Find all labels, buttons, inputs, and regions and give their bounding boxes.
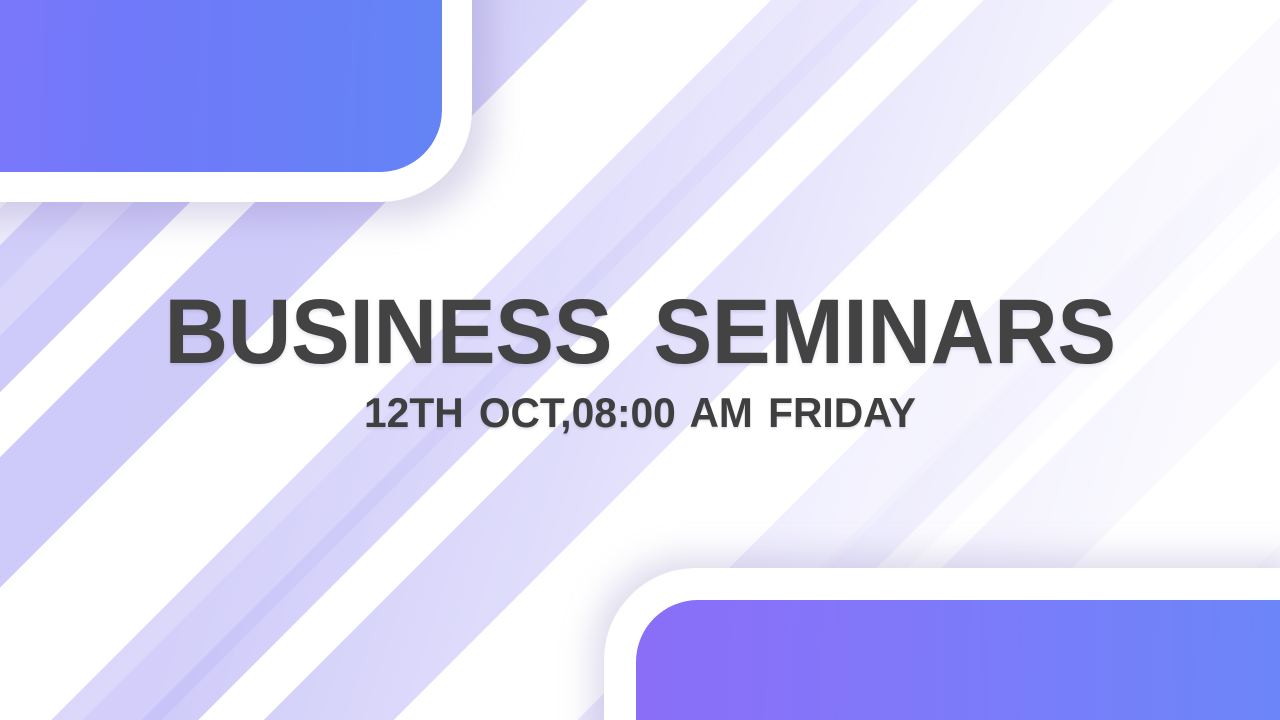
top-left-gradient-plate [0,0,442,172]
bottom-right-gradient-plate [636,600,1280,720]
headline-block: BUSINESS SEMINARS 12TH OCT,08:00 AM FRID… [0,286,1280,434]
event-subtitle: 12TH OCT,08:00 AM FRIDAY [19,392,1261,434]
event-title: BUSINESS SEMINARS [26,286,1255,378]
event-poster: BUSINESS SEMINARS 12TH OCT,08:00 AM FRID… [0,0,1280,720]
